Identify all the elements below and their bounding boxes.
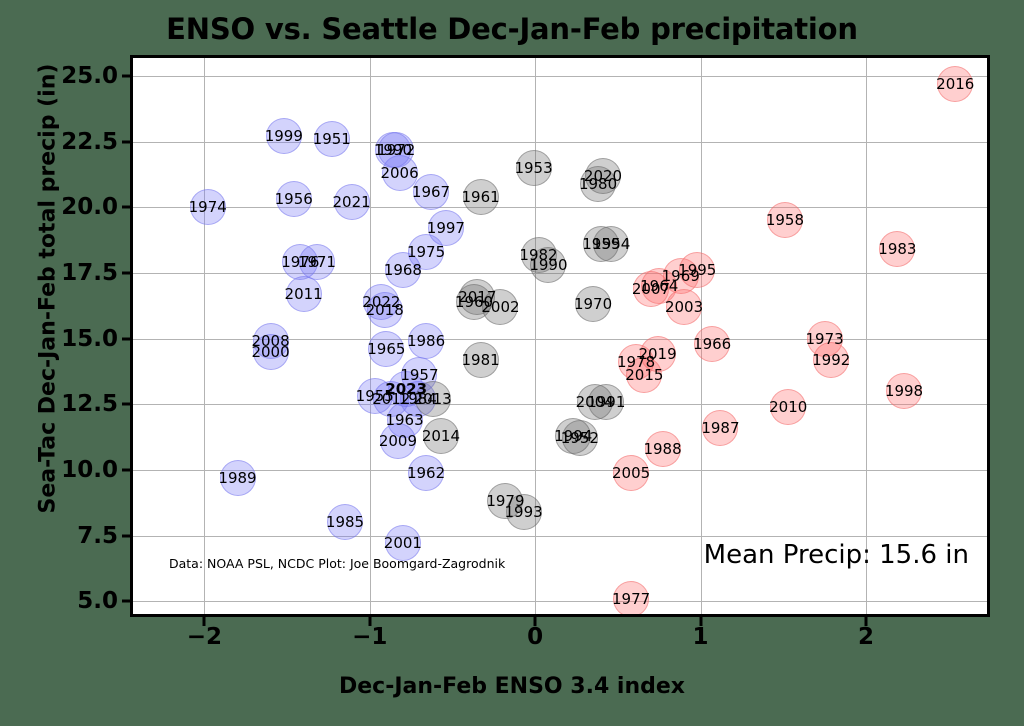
x-tick-label: −2 xyxy=(187,624,222,650)
y-axis-label: Sea-Tac Dec-Jan-Feb total precip (in) xyxy=(36,0,61,589)
chart-figure: ENSO vs. Seattle Dec-Jan-Feb precipitati… xyxy=(0,0,1024,726)
y-tick-mark xyxy=(122,140,131,143)
y-tick-label: 5.0 xyxy=(26,588,118,614)
y-tick-mark xyxy=(122,337,131,340)
y-tick-mark xyxy=(122,600,131,603)
y-tick-mark xyxy=(122,75,131,78)
y-tick-mark xyxy=(122,468,131,471)
x-tick-label: 2 xyxy=(858,624,874,650)
y-tick-mark xyxy=(122,206,131,209)
y-tick-mark xyxy=(122,534,131,537)
y-tick-mark xyxy=(122,271,131,274)
x-tick-label: −1 xyxy=(352,624,387,650)
y-tick-mark xyxy=(122,403,131,406)
x-tick-label: 0 xyxy=(527,624,543,650)
x-axis-label: Dec-Jan-Feb ENSO 3.4 index xyxy=(0,674,1024,699)
x-tick-label: 1 xyxy=(693,624,709,650)
axes-decorations: 5.07.510.012.515.017.520.022.525.0−2−101… xyxy=(0,0,1024,726)
